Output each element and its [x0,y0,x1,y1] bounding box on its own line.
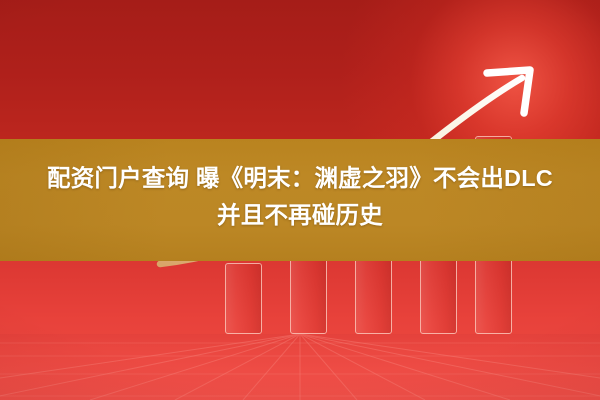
chart-bar-1 [225,263,262,334]
perspective-floor [0,334,600,400]
floor-grid [0,334,600,400]
page-title: 配资门户查询 曝《明末：渊虚之羽》不会出DLC 并且不再碰历史 [0,160,600,234]
headline-line-2: 并且不再碰历史 [0,197,600,234]
news-banner: 配资门户查询 曝《明末：渊虚之羽》不会出DLC 并且不再碰历史 [0,0,600,400]
headline-line-1: 配资门户查询 曝《明末：渊虚之羽》不会出DLC [47,165,553,191]
chart-bar-fill [226,264,261,333]
